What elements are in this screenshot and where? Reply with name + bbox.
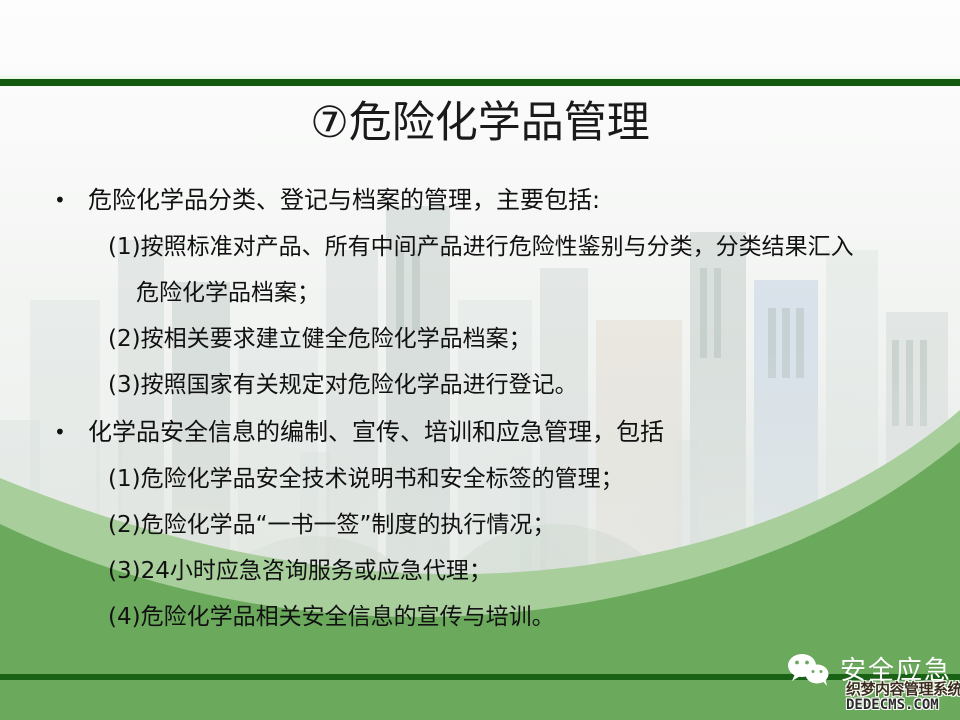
bullet-line-8-text: (2)危险化学品“一书一签”制度的执行情况； bbox=[108, 512, 555, 538]
bullet-line-5: (3)按照国家有关规定对危险化学品进行登记。 bbox=[0, 362, 960, 408]
bullet-line-9-text: (3)24小时应急咨询服务或应急代理； bbox=[108, 558, 492, 584]
bullet-line-5-text: (3)按照国家有关规定对危险化学品进行登记。 bbox=[108, 372, 578, 398]
bullet-line-1: • 危险化学品分类、登记与档案的管理，主要包括: bbox=[0, 176, 960, 224]
bullet-dot-icon: • bbox=[54, 176, 66, 224]
bullet-line-4-text: (2)按相关要求建立健全危险化学品档案； bbox=[108, 326, 532, 352]
watermark-en-text: DEDECMS.COM bbox=[846, 698, 960, 713]
bullet-line-10: (4)危险化学品相关安全信息的宣传与培训。 bbox=[0, 594, 960, 640]
dedecms-watermark: 织梦内容管理系统 DEDECMS.COM bbox=[846, 682, 960, 712]
wechat-icon bbox=[786, 652, 832, 686]
bullet-line-6: • 化学品安全信息的编制、宣传、培训和应急管理，包括 bbox=[0, 408, 960, 456]
bullet-line-6-text: 化学品安全信息的编制、宣传、培训和应急管理，包括 bbox=[88, 418, 664, 446]
bullet-dot-icon: • bbox=[54, 408, 66, 456]
bullet-line-2-text: (1)按照标准对产品、所有中间产品进行危险性鉴别与分类，分类结果汇入 bbox=[108, 234, 854, 260]
bullet-line-1-text: 危险化学品分类、登记与档案的管理，主要包括: bbox=[88, 186, 600, 214]
bullet-line-4: (2)按相关要求建立健全危险化学品档案； bbox=[0, 316, 960, 362]
bullet-line-10-text: (4)危险化学品相关安全信息的宣传与培训。 bbox=[108, 604, 555, 630]
bullet-line-7: (1)危险化学品安全技术说明书和安全标签的管理； bbox=[0, 456, 960, 502]
bullet-line-3-text: 危险化学品档案； bbox=[136, 280, 320, 306]
bullet-line-7-text: (1)危险化学品安全技术说明书和安全标签的管理； bbox=[108, 466, 624, 492]
title-rule-top bbox=[0, 79, 960, 86]
page-title: ⑦危险化学品管理 bbox=[0, 96, 960, 150]
bullet-line-3: 危险化学品档案； bbox=[0, 270, 960, 316]
bullet-line-8: (2)危险化学品“一书一签”制度的执行情况； bbox=[0, 502, 960, 548]
watermark-cn-text: 织梦内容管理系统 bbox=[846, 682, 960, 698]
slide-body: • 危险化学品分类、登记与档案的管理，主要包括: (1)按照标准对产品、所有中间… bbox=[0, 176, 960, 640]
slide-canvas: ⑦危险化学品管理 • 危险化学品分类、登记与档案的管理，主要包括: (1)按照标… bbox=[0, 0, 960, 720]
bullet-line-9: (3)24小时应急咨询服务或应急代理； bbox=[0, 548, 960, 594]
bullet-line-2: (1)按照标准对产品、所有中间产品进行危险性鉴别与分类，分类结果汇入 bbox=[0, 224, 960, 270]
